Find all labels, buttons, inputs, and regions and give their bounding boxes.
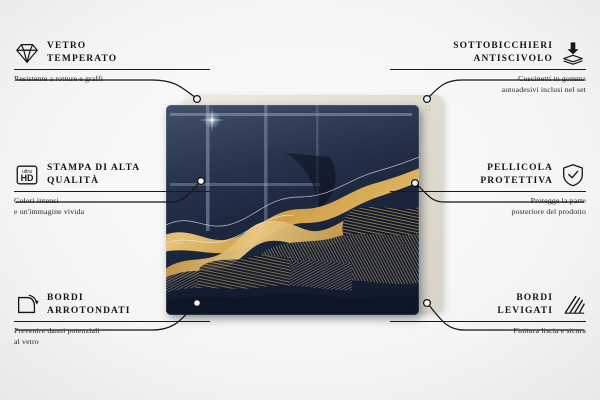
press-pads-icon — [560, 40, 586, 66]
feature-description: Protegge la parte posteriore del prodott… — [390, 195, 586, 218]
feature-divider — [14, 69, 210, 70]
svg-text:HD: HD — [21, 173, 34, 183]
feature-description: Cuscinetti in gomma autoadesivi inclusi … — [390, 73, 586, 96]
feature-divider — [390, 191, 586, 192]
feature-description: Finitura liscia e sicura — [390, 325, 586, 336]
feature-title: VETRO TEMPERATO — [47, 40, 117, 66]
feature-title: PELLICOLA PROTETTIVA — [480, 162, 553, 188]
feature-description: Colori intensi e un'immagine vivida — [14, 195, 210, 218]
feature-title: SOTTOBICCHIERI ANTISCIVOLO — [453, 40, 553, 66]
feature-title: BORDI ARROTONDATI — [47, 292, 131, 318]
feature-divider — [14, 321, 210, 322]
feature-stampa-alta-qualita: ultra HD STAMPA DI ALTA QUALITÀ Colori i… — [14, 162, 210, 218]
feature-bordi-levigati: BORDI LEVIGATI Finitura liscia e sicura — [390, 292, 586, 336]
feature-title: STAMPA DI ALTA QUALITÀ — [47, 162, 140, 188]
infographic-canvas: VETRO TEMPERATO Resistente a rotture e g… — [0, 0, 600, 400]
feature-description: Prevenire danni potenziali al vetro — [14, 325, 210, 348]
shield-check-icon — [560, 162, 586, 188]
polished-edge-lines-icon — [560, 292, 586, 318]
connector-dot — [194, 96, 201, 103]
ultra-hd-badge-icon: ultra HD — [14, 162, 40, 188]
feature-divider — [14, 191, 210, 192]
feature-description: Resistente a rotture e graffi — [14, 73, 210, 84]
feature-bordi-arrotondati: BORDI ARROTONDATI Prevenire danni potenz… — [14, 292, 210, 348]
feature-divider — [390, 69, 586, 70]
connector-dot — [424, 96, 431, 103]
feature-divider — [390, 321, 586, 322]
feature-pellicola-protettiva: PELLICOLA PROTETTIVA Protegge la parte p… — [390, 162, 586, 218]
diamond-icon — [14, 40, 40, 66]
feature-sottobicchieri-antiscivolo: SOTTOBICCHIERI ANTISCIVOLO Cuscinetti in… — [390, 40, 586, 96]
rounded-corner-icon — [14, 292, 40, 318]
feature-vetro-temperato: VETRO TEMPERATO Resistente a rotture e g… — [14, 40, 210, 84]
feature-title: BORDI LEVIGATI — [497, 292, 553, 318]
